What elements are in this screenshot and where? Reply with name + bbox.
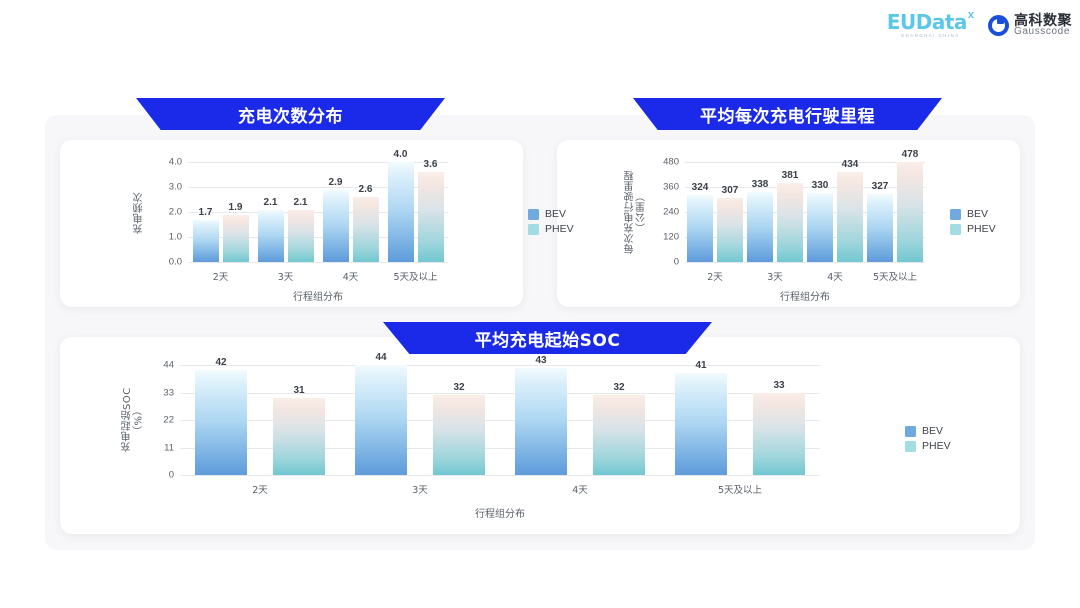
x-axis-title: 行程组分布 (188, 288, 448, 303)
grid-line (685, 262, 925, 263)
x-axis-tick-label: 5天及以上 (873, 269, 917, 283)
bar-bev[interactable]: 41 (675, 373, 727, 476)
y-axis-tick-label: 1.0 (169, 232, 188, 243)
chart-range-per-charge: 01202403604803243072天3383813天3304344天327… (557, 140, 1020, 307)
legend-label-bev: BEV (967, 208, 988, 220)
bar-value-label: 33 (773, 380, 784, 391)
bar-bev[interactable]: 330 (807, 193, 833, 262)
chart-start-soc: 01122334442312天44323天43324天41335天及以上充电起始… (60, 337, 1020, 534)
bar-bev[interactable]: 338 (747, 192, 773, 262)
plot-area: 01122334442312天44323天43324天41335天及以上 (180, 365, 820, 475)
bar-value-label: 32 (613, 382, 624, 393)
x-axis-tick-label: 5天及以上 (393, 269, 437, 283)
chart-title-banner-range-per-charge: 平均每次充电行驶里程 (633, 98, 942, 130)
bar-value-label: 324 (692, 182, 709, 193)
legend-label-phev: PHEV (922, 440, 951, 452)
chart-title-start-soc: 平均充电起始SOC (475, 326, 621, 351)
bar-value-label: 1.7 (199, 207, 213, 218)
y-axis-tick-label: 44 (163, 360, 180, 371)
bar-value-label: 2.1 (264, 197, 278, 208)
chart-legend: BEVPHEV (950, 208, 996, 238)
x-axis-tick-label: 3天 (767, 269, 783, 283)
evdata-logo-wordmark: EUDatax (887, 12, 974, 32)
x-axis-title: 行程组分布 (180, 505, 820, 520)
x-axis-title: 行程组分布 (675, 288, 935, 303)
y-axis-tick-label: 11 (164, 442, 180, 453)
x-axis-tick-label: 4天 (343, 269, 359, 283)
legend-swatch-phev (950, 224, 961, 235)
bar-phev[interactable]: 31 (273, 398, 325, 476)
bar-value-label: 42 (215, 357, 226, 368)
gausscode-logo: 高科数聚 Gausscode (988, 13, 1072, 38)
y-axis-tick-label: 2.0 (169, 207, 188, 218)
x-axis-tick-label: 3天 (412, 482, 428, 496)
bar-value-label: 434 (842, 159, 859, 170)
bar-phev[interactable]: 3.6 (418, 172, 444, 262)
bar-bev[interactable]: 1.7 (193, 220, 219, 263)
bar-phev[interactable]: 2.6 (353, 197, 379, 262)
x-axis-tick-label: 4天 (572, 482, 588, 496)
bar-value-label: 3.6 (424, 159, 438, 170)
x-axis-tick-label: 3天 (278, 269, 294, 283)
gausscode-logo-cn: 高科数聚 (1014, 13, 1072, 28)
y-axis-tick-label: 22 (163, 415, 180, 426)
legend-swatch-phev (528, 224, 539, 235)
bar-value-label: 31 (293, 385, 304, 396)
grid-line (188, 262, 448, 263)
header-logos: EUDatax SHANGHAI CHINA 高科数聚 Gausscode (887, 12, 1072, 38)
y-axis-tick-label: 240 (663, 207, 685, 218)
legend-item-phev[interactable]: PHEV (950, 223, 996, 235)
bar-value-label: 307 (722, 185, 739, 196)
y-axis-tick-label: 0 (674, 257, 685, 268)
bar-phev[interactable]: 1.9 (223, 215, 249, 263)
y-axis-tick-label: 360 (663, 182, 685, 193)
legend-label-bev: BEV (922, 425, 943, 437)
y-axis-title-line1: 每次充电行驶里程 (625, 170, 636, 254)
bar-phev[interactable]: 478 (897, 162, 923, 262)
legend-swatch-bev (528, 209, 539, 220)
legend-swatch-phev (905, 441, 916, 452)
bar-value-label: 1.9 (229, 202, 243, 213)
bar-value-label: 478 (902, 149, 919, 160)
bar-bev[interactable]: 2.1 (258, 210, 284, 263)
bar-bev[interactable]: 42 (195, 370, 247, 475)
bar-value-label: 32 (453, 382, 464, 393)
bar-phev[interactable]: 32 (593, 395, 645, 475)
bar-value-label: 2.6 (359, 184, 373, 195)
legend-swatch-bev (905, 426, 916, 437)
chart-charge-frequency: 0.01.02.03.04.01.71.92天2.12.13天2.92.64天4… (60, 140, 523, 307)
y-axis-tick-label: 480 (663, 157, 685, 168)
x-axis-tick-label: 4天 (827, 269, 843, 283)
y-axis-title-line2: （%） (134, 363, 146, 477)
legend-label-phev: PHEV (967, 223, 996, 235)
y-axis-title: 充电起始SOC（%） (122, 363, 145, 477)
bar-phev[interactable]: 434 (837, 172, 863, 262)
bar-value-label: 330 (812, 180, 829, 191)
gausscode-logo-text: 高科数聚 Gausscode (1014, 13, 1072, 38)
bar-value-label: 2.9 (329, 177, 343, 188)
evdata-logo-subtitle: SHANGHAI CHINA (901, 34, 959, 38)
chart-title-banner-start-soc: 平均充电起始SOC (383, 322, 712, 354)
y-axis-tick-label: 120 (663, 232, 685, 243)
y-axis-title: 每次充电行驶里程（公里） (625, 160, 648, 264)
y-axis-tick-label: 33 (163, 387, 180, 398)
bar-value-label: 4.0 (394, 149, 408, 160)
bar-bev[interactable]: 2.9 (323, 190, 349, 263)
y-axis-tick-label: 4.0 (169, 157, 188, 168)
bar-phev[interactable]: 2.1 (288, 210, 314, 263)
bar-value-label: 44 (375, 352, 386, 363)
gausscode-logo-en: Gausscode (1014, 27, 1072, 38)
bar-phev[interactable]: 307 (717, 198, 743, 262)
bar-phev[interactable]: 32 (433, 395, 485, 475)
x-axis-tick-label: 2天 (213, 269, 229, 283)
grid-line (180, 475, 820, 476)
bar-value-label: 2.1 (294, 197, 308, 208)
y-axis-tick-label: 0 (169, 470, 180, 481)
bar-bev[interactable]: 327 (867, 194, 893, 262)
x-axis-tick-label: 5天及以上 (718, 482, 762, 496)
x-axis-tick-label: 2天 (252, 482, 268, 496)
bar-phev[interactable]: 33 (753, 393, 805, 476)
bar-phev[interactable]: 381 (777, 183, 803, 262)
bar-value-label: 327 (872, 181, 889, 192)
bar-bev[interactable]: 324 (687, 195, 713, 263)
x-axis-tick-label: 2天 (707, 269, 723, 283)
bar-bev[interactable]: 44 (355, 365, 407, 475)
slide-root: EUDatax SHANGHAI CHINA 高科数聚 Gausscode 充电… (0, 0, 1080, 608)
bar-value-label: 41 (695, 360, 706, 371)
y-axis-title: 充电频次 (134, 170, 146, 256)
chart-title-banner-charge-frequency: 充电次数分布 (136, 98, 445, 130)
bar-value-label: 381 (782, 170, 799, 181)
evdata-logo-data: Data (916, 12, 967, 32)
plot-area: 0.01.02.03.04.01.71.92天2.12.13天2.92.64天4… (188, 162, 448, 262)
legend-swatch-bev (950, 209, 961, 220)
plot-area: 01202403604803243072天3383813天3304344天327… (685, 162, 925, 262)
y-axis-title-line1: 充电起始SOC (122, 388, 133, 453)
legend-item-bev[interactable]: BEV (905, 425, 951, 437)
evdata-logo-ev: EU (887, 12, 916, 32)
gausscode-mark-icon (988, 15, 1009, 36)
grid-line (180, 365, 820, 366)
bar-value-label: 43 (535, 355, 546, 366)
chart-title-charge-frequency: 充电次数分布 (238, 102, 343, 127)
chart-legend: BEVPHEV (905, 425, 951, 455)
chart-title-range-per-charge: 平均每次充电行驶里程 (700, 102, 875, 127)
grid-line (685, 162, 925, 163)
y-axis-tick-label: 0.0 (169, 257, 188, 268)
evdata-logo: EUDatax SHANGHAI CHINA (887, 12, 974, 38)
legend-item-bev[interactable]: BEV (950, 208, 996, 220)
legend-item-phev[interactable]: PHEV (905, 440, 951, 452)
y-axis-tick-label: 3.0 (169, 182, 188, 193)
y-axis-title-line2: （公里） (637, 160, 649, 264)
bar-value-label: 338 (752, 179, 769, 190)
bar-bev[interactable]: 43 (515, 368, 567, 476)
bar-bev[interactable]: 4.0 (388, 162, 414, 262)
evdata-logo-x-icon: x (968, 10, 974, 21)
